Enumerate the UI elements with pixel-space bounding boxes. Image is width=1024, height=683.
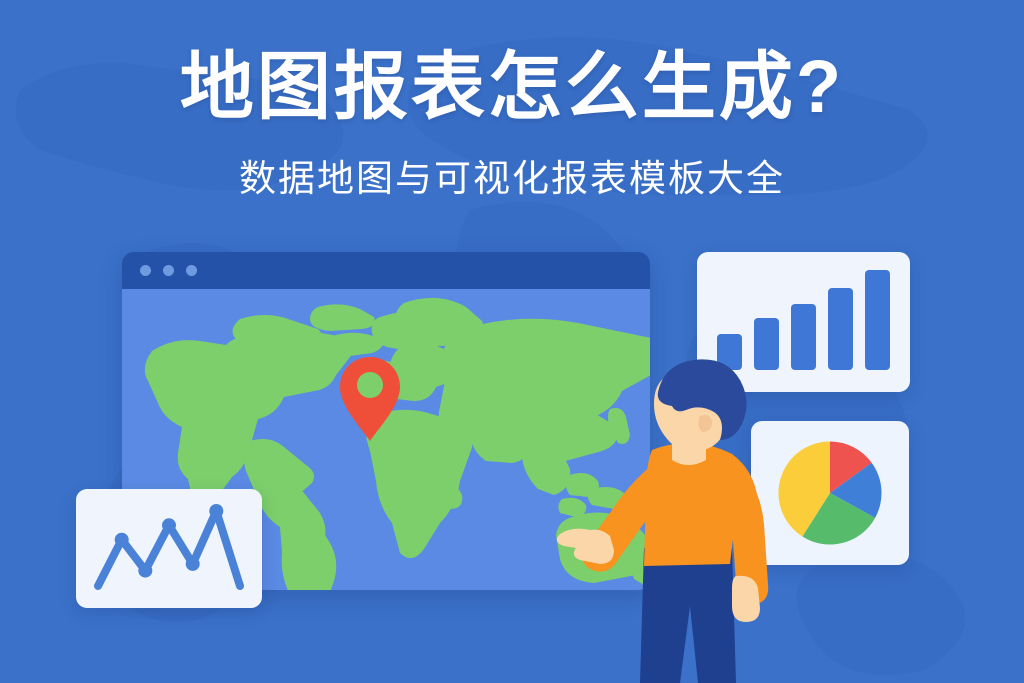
bar-chart-bars — [717, 270, 890, 370]
bar-5 — [865, 270, 890, 370]
map-pin-svg — [338, 355, 402, 443]
line-point-2 — [115, 533, 129, 547]
window-dot-minimize-icon[interactable] — [163, 265, 174, 276]
line-chart-svg — [76, 489, 262, 608]
map-location-pin-icon[interactable] — [338, 355, 402, 443]
person-pointing-at-map — [540, 358, 800, 683]
window-dot-maximize-icon[interactable] — [186, 265, 197, 276]
line-point-6 — [209, 504, 223, 518]
line-point-3 — [138, 564, 152, 578]
line-point-5 — [186, 557, 200, 571]
window-dot-close-icon[interactable] — [140, 265, 151, 276]
person-pants — [640, 548, 736, 683]
line-chart-card[interactable] — [76, 489, 262, 608]
person-pointing-hand — [557, 529, 614, 564]
poster-canvas: 地图报表怎么生成? 数据地图与可视化报表模板大全 — [0, 0, 1024, 683]
page-subtitle: 数据地图与可视化报表模板大全 — [0, 148, 1024, 202]
line-point-4 — [162, 518, 176, 532]
page-title: 地图报表怎么生成? — [0, 48, 1024, 126]
browser-titlebar — [122, 252, 650, 289]
person-svg — [540, 358, 800, 683]
headline-block: 地图报表怎么生成? 数据地图与可视化报表模板大全 — [0, 48, 1024, 202]
bar-4 — [828, 288, 853, 370]
